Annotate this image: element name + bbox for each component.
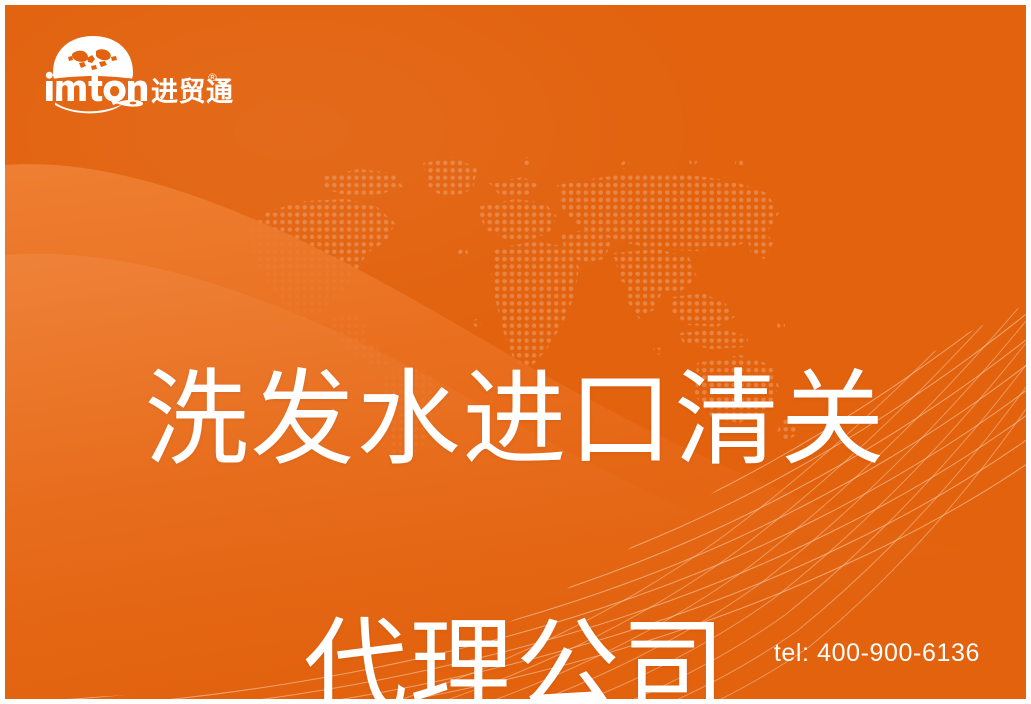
trademark-icon: ® bbox=[207, 71, 218, 84]
svg-text:®: ® bbox=[207, 71, 218, 84]
brand-logo[interactable]: 进贸通 ® bbox=[43, 33, 218, 111]
page-title: 洗发水进口清关 代理公司 bbox=[5, 233, 1026, 699]
globe-arc-icon bbox=[53, 36, 133, 79]
banner-frame: 进贸通 ® 洗发水进口清关 代理公司 tel: 400-900-6136 bbox=[5, 5, 1026, 699]
headline-line-1: 洗发水进口清关 bbox=[5, 357, 1026, 481]
contact-phone[interactable]: tel: 400-900-6136 bbox=[774, 639, 980, 668]
svg-text:进贸通: 进贸通 bbox=[151, 77, 234, 108]
logo-chinese-mark: 进贸通 bbox=[151, 77, 234, 108]
promo-banner: 进贸通 ® 洗发水进口清关 代理公司 tel: 400-900-6136 bbox=[0, 0, 1031, 704]
